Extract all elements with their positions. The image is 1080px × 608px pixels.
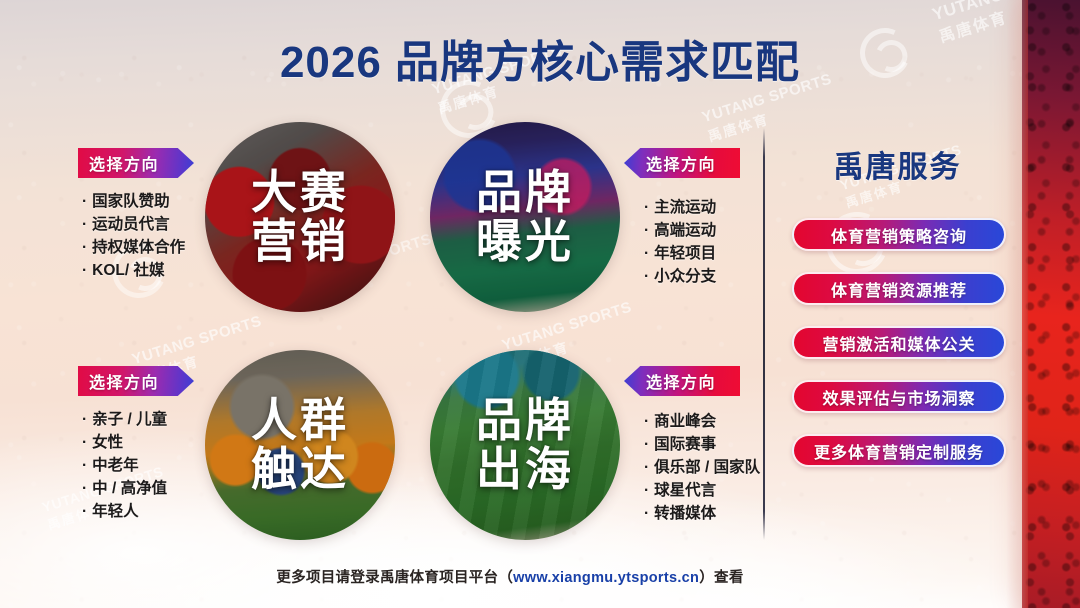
list-item[interactable]: 中老年 — [82, 454, 167, 477]
footer-url[interactable]: www.xiangmu.ytsports.cn — [513, 570, 699, 586]
circle-caption-line1: 大赛 — [251, 168, 349, 217]
slide-canvas: YUTANG SPORTS禹唐体育 YUTANG SPORTS禹唐体育 YUTA… — [0, 0, 1080, 608]
circle-caption-line1: 品牌 — [476, 396, 574, 445]
background-red-strip — [1022, 0, 1080, 608]
circle-caption-competition-marketing: 大赛 营销 — [205, 122, 395, 312]
direction-banner-competition-marketing: 选择方向 — [78, 148, 194, 178]
list-item[interactable]: 转播媒体 — [644, 502, 760, 525]
circle-caption-audience-reach: 人群 触达 — [205, 350, 395, 540]
quadrant-circle-brand-exposure[interactable]: 品牌 曝光 — [430, 122, 620, 312]
direction-banner-label: 选择方向 — [646, 151, 716, 175]
list-item[interactable]: KOL/ 社媒 — [82, 259, 185, 282]
page-title: 2026 品牌方核心需求匹配 — [0, 26, 1080, 90]
list-item[interactable]: 国际赛事 — [644, 433, 760, 456]
list-item[interactable]: 主流运动 — [644, 196, 716, 219]
circle-caption-line1: 人群 — [251, 396, 349, 445]
list-item[interactable]: 高端运动 — [644, 219, 716, 242]
service-pill-custom-services[interactable]: 更多体育营销定制服务 — [792, 434, 1006, 467]
footer-prefix: 更多项目请登录禹唐体育项目平台（ — [276, 570, 513, 586]
section-divider — [763, 128, 765, 540]
list-item[interactable]: 年轻人 — [82, 500, 167, 523]
list-item[interactable]: 小众分支 — [644, 265, 716, 288]
list-item[interactable]: 持权媒体合作 — [82, 236, 185, 259]
option-list-brand-globalization: 商业峰会 国际赛事 俱乐部 / 国家队 球星代言 转播媒体 — [644, 410, 760, 525]
quadrant-circle-competition-marketing[interactable]: 大赛 营销 — [205, 122, 395, 312]
direction-banner-label: 选择方向 — [89, 151, 159, 175]
circle-caption-brand-exposure: 品牌 曝光 — [430, 122, 620, 312]
services-title: 禹唐服务 — [790, 142, 1005, 186]
footer-suffix: ）查看 — [699, 570, 743, 586]
circle-caption-line1: 品牌 — [476, 168, 574, 217]
list-item[interactable]: 亲子 / 儿童 — [82, 408, 167, 431]
list-item[interactable]: 国家队赞助 — [82, 190, 185, 213]
circle-caption-line2: 营销 — [251, 217, 349, 266]
direction-banner-audience-reach: 选择方向 — [78, 366, 194, 396]
option-list-brand-exposure: 主流运动 高端运动 年轻项目 小众分支 — [644, 196, 716, 288]
quadrant-circle-brand-globalization[interactable]: 品牌 出海 — [430, 350, 620, 540]
option-list-audience-reach: 亲子 / 儿童 女性 中老年 中 / 高净值 年轻人 — [82, 408, 167, 523]
circle-caption-brand-globalization: 品牌 出海 — [430, 350, 620, 540]
list-item[interactable]: 商业峰会 — [644, 410, 760, 433]
list-item[interactable]: 中 / 高净值 — [82, 477, 167, 500]
list-item[interactable]: 运动员代言 — [82, 213, 185, 236]
list-item[interactable]: 女性 — [82, 431, 167, 454]
service-pill-evaluation-insight[interactable]: 效果评估与市场洞察 — [792, 380, 1006, 413]
list-item[interactable]: 年轻项目 — [644, 242, 716, 265]
direction-banner-brand-globalization: 选择方向 — [624, 366, 740, 396]
direction-banner-label: 选择方向 — [646, 369, 716, 393]
list-item[interactable]: 俱乐部 / 国家队 — [644, 456, 760, 479]
service-pill-activation-pr[interactable]: 营销激活和媒体公关 — [792, 326, 1006, 359]
circle-caption-line2: 曝光 — [476, 217, 574, 266]
circle-caption-line2: 触达 — [251, 445, 349, 494]
services-list: 体育营销策略咨询 体育营销资源推荐 营销激活和媒体公关 效果评估与市场洞察 更多… — [792, 218, 1006, 467]
quadrant-circle-audience-reach[interactable]: 人群 触达 — [205, 350, 395, 540]
circle-caption-line2: 出海 — [476, 445, 574, 494]
service-pill-resource-recommendation[interactable]: 体育营销资源推荐 — [792, 272, 1006, 305]
direction-banner-label: 选择方向 — [89, 369, 159, 393]
option-list-competition-marketing: 国家队赞助 运动员代言 持权媒体合作 KOL/ 社媒 — [82, 190, 185, 282]
service-pill-strategy-consulting[interactable]: 体育营销策略咨询 — [792, 218, 1006, 251]
footer-note: 更多项目请登录禹唐体育项目平台（www.xiangmu.ytsports.cn）… — [0, 566, 1020, 587]
list-item[interactable]: 球星代言 — [644, 479, 760, 502]
direction-banner-brand-exposure: 选择方向 — [624, 148, 740, 178]
